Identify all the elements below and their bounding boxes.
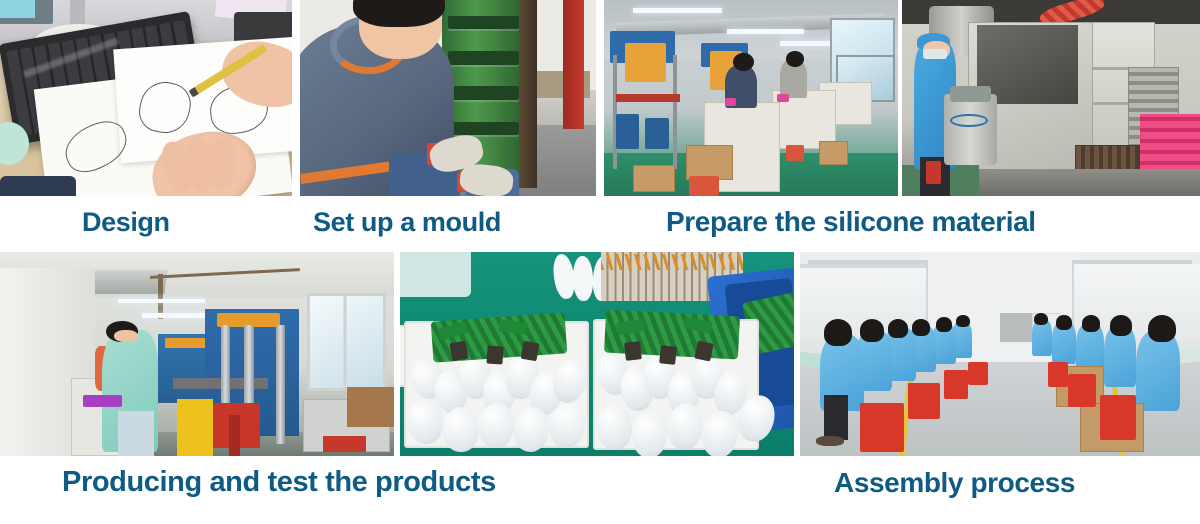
keyboard-highlight <box>23 38 120 79</box>
press-cylinder <box>616 114 640 149</box>
white-silicone-part <box>573 256 594 302</box>
worker-hair <box>1148 315 1176 342</box>
worker-hair <box>956 315 970 327</box>
worker-setting-up-green-mould-photo <box>300 0 596 196</box>
pink-part <box>777 94 789 102</box>
sandal <box>816 436 844 446</box>
worker-hair <box>888 319 908 337</box>
silicone-preparation-workshop-photo <box>604 0 898 196</box>
fluorescent-tube <box>118 299 205 303</box>
caption-design: Design <box>82 207 170 238</box>
utility-cart <box>1000 313 1032 342</box>
press-frame <box>613 55 678 169</box>
red-stool <box>944 370 968 399</box>
worker-hair <box>912 319 930 335</box>
assembly-line-workers-photo <box>800 252 1200 456</box>
designer-sketching-product-concepts-photo <box>0 0 292 196</box>
press-column <box>276 325 285 443</box>
carton-box <box>633 165 674 192</box>
step-card-silicone-workshop[interactable] <box>604 0 898 196</box>
worker-legs <box>118 411 153 456</box>
mould-cavity <box>448 16 519 30</box>
worker-head <box>786 51 804 67</box>
red-stool <box>908 383 940 420</box>
mould-cavity <box>448 51 519 65</box>
caption-producing: Producing and test the products <box>62 466 496 499</box>
black-component <box>521 341 540 362</box>
red-frame <box>229 415 241 456</box>
caption-assembly: Assembly process <box>834 467 1075 499</box>
poly-bag-of-parts <box>400 252 471 297</box>
ceiling-rail <box>808 260 928 264</box>
mixer-top <box>950 86 992 102</box>
red-stool <box>968 362 988 384</box>
press-label <box>165 338 204 348</box>
finished-silicone-products-with-pcbs-photo <box>400 252 794 456</box>
black-component <box>624 341 642 361</box>
mould-cavity <box>448 86 519 100</box>
worker-blue-coat <box>1136 330 1180 412</box>
fluorescent-tube <box>633 8 721 13</box>
wood-panel <box>347 387 394 428</box>
worker-legs <box>824 395 848 440</box>
worker-hair <box>936 317 952 331</box>
worker-head <box>733 53 754 71</box>
step-card-silicone-machine[interactable] <box>902 0 1200 196</box>
black-component <box>486 345 503 364</box>
face-mask <box>923 49 947 59</box>
manufacturing-process-gallery: Design Set up a mould Prepare the silico… <box>0 0 1200 524</box>
machine-window <box>977 25 1078 103</box>
mould-edge <box>519 0 537 188</box>
step-card-assembly[interactable] <box>800 252 1200 456</box>
purple-product-tray <box>83 395 122 407</box>
fluorescent-tube <box>780 41 833 46</box>
step-card-products[interactable] <box>400 252 794 456</box>
red-pallet-jack <box>323 436 366 452</box>
pink-part <box>725 98 737 106</box>
mould-cavity <box>448 122 519 136</box>
step-card-producing[interactable] <box>0 252 394 456</box>
fluorescent-tube <box>142 313 205 317</box>
pink-crates-stack <box>1140 114 1200 173</box>
red-bar <box>616 94 681 102</box>
pcb-wiring <box>601 254 743 270</box>
red-stool <box>860 403 904 452</box>
worker-hair <box>824 319 852 346</box>
step-card-design[interactable] <box>0 0 292 196</box>
press-cylinder <box>645 118 669 149</box>
carton-box <box>819 141 848 165</box>
caption-silicone: Prepare the silicone material <box>666 206 1036 238</box>
yellow-panel <box>177 399 212 456</box>
window-mullions <box>307 293 386 391</box>
worker-hair <box>1110 315 1132 335</box>
black-component <box>450 341 469 362</box>
production-and-testing-line-photo <box>0 252 394 456</box>
worker-hair <box>1056 315 1072 329</box>
worker-face <box>114 330 138 342</box>
worker-hair <box>1082 315 1100 331</box>
red-stool <box>1100 395 1136 440</box>
white-silicone-product <box>443 407 478 452</box>
red-stool <box>689 176 718 196</box>
red-stool <box>1068 374 1096 407</box>
ceiling-rail <box>1072 260 1192 264</box>
step-card-mould[interactable] <box>300 0 596 196</box>
red-post <box>563 0 584 129</box>
mixing-head <box>944 94 998 165</box>
carton-box <box>686 145 733 180</box>
red-stool <box>786 145 804 161</box>
red-canister <box>926 161 941 185</box>
fluorescent-tube <box>727 29 803 34</box>
caption-mould: Set up a mould <box>313 207 501 238</box>
desk-object <box>0 176 76 196</box>
black-component <box>694 340 713 361</box>
black-component <box>659 345 677 365</box>
monitor-screen <box>0 0 35 18</box>
worker-hair <box>860 319 884 341</box>
worker-hair <box>1034 313 1048 325</box>
red-stool <box>1048 362 1068 386</box>
silicone-material-mixing-machine-photo <box>902 0 1200 196</box>
